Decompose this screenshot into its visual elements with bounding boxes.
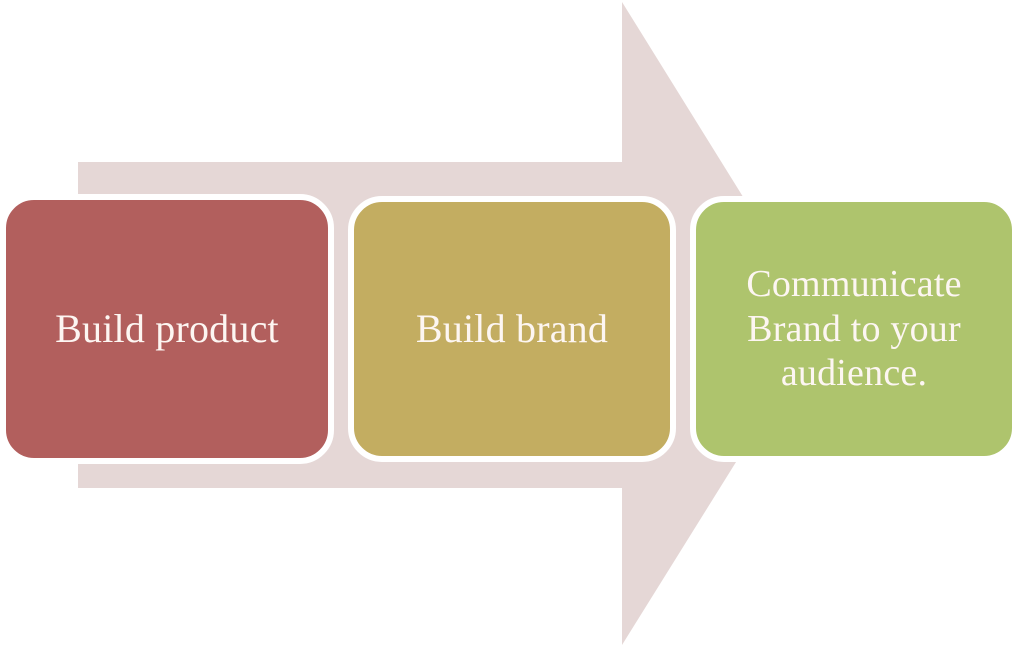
process-step-label: Build product bbox=[6, 305, 328, 352]
process-step-build-brand[interactable]: Build brand bbox=[348, 196, 676, 462]
process-flow-diagram: Build product Build brand Communicate Br… bbox=[0, 0, 1024, 652]
process-step-build-product[interactable]: Build product bbox=[0, 194, 334, 464]
process-step-label: Communicate Brand to your audience. bbox=[696, 262, 1012, 396]
process-step-communicate-brand[interactable]: Communicate Brand to your audience. bbox=[690, 196, 1018, 462]
process-step-list: Build product Build brand Communicate Br… bbox=[0, 0, 1024, 652]
process-step-label: Build brand bbox=[354, 305, 670, 352]
